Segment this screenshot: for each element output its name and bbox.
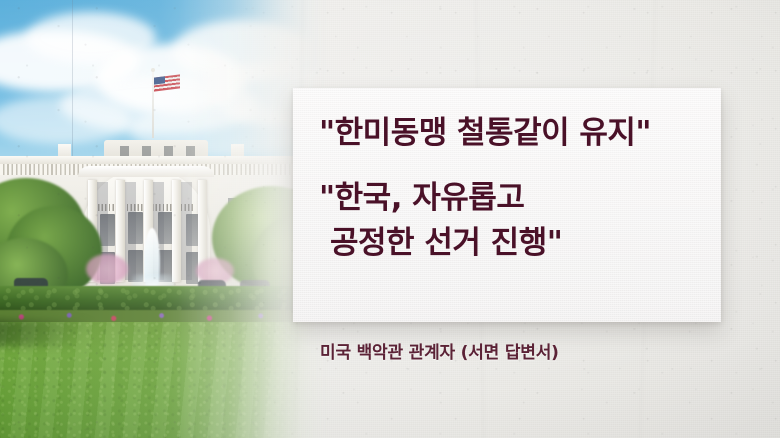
blossom-tree <box>86 254 128 284</box>
lawn-shadow <box>0 320 110 346</box>
quote-line-2: "한국, 자유롭고 <box>319 176 695 221</box>
quote-block-primary: "한미동맹 철통같이 유지" <box>319 112 695 154</box>
white-house-photo <box>0 0 330 438</box>
attic-window <box>142 146 151 156</box>
portico-column <box>172 180 181 282</box>
quote-line-1: "한미동맹 철통같이 유지" <box>319 112 695 154</box>
quote-block-secondary: "한국, 자유롭고 공정한 선거 진행" <box>319 176 695 266</box>
attribution-caption: 미국 백악관 관계자 (서면 답변서) <box>320 338 559 363</box>
attic-window <box>120 146 129 156</box>
quote-card: "한미동맹 철통같이 유지" "한국, 자유롭고 공정한 선거 진행" <box>293 88 721 322</box>
attic-window <box>164 146 173 156</box>
hedge-texture <box>0 286 330 312</box>
quote-line-3: 공정한 선거 진행" <box>319 221 695 266</box>
quote-card-content: "한미동맹 철통같이 유지" "한국, 자유롭고 공정한 선거 진행" <box>293 88 721 322</box>
photo-seam-line <box>72 0 73 160</box>
attic-window <box>186 146 195 156</box>
portico-cornice <box>78 166 214 177</box>
roofline <box>0 156 330 164</box>
news-graphic-stage: "한미동맹 철통같이 유지" "한국, 자유롭고 공정한 선거 진행" 미국 백… <box>0 0 780 438</box>
